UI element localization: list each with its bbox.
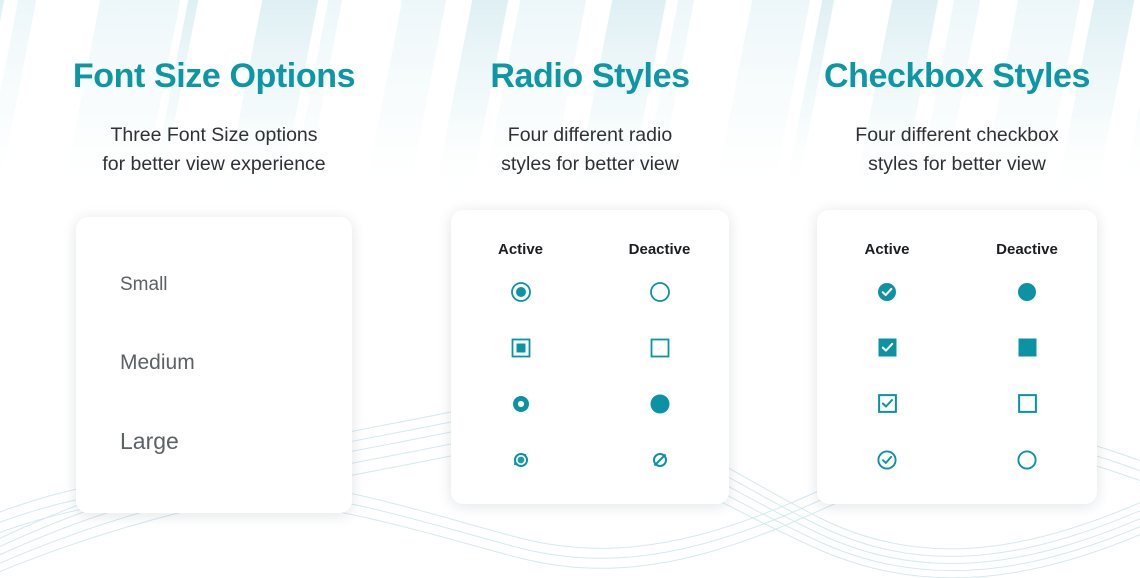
check-square-filled-icon bbox=[878, 338, 897, 357]
column-checkbox-styles: Checkbox Styles Four different checkbox … bbox=[774, 58, 1140, 578]
font-option-large[interactable]: Large bbox=[120, 430, 352, 453]
page-title-checkbox-styles: Checkbox Styles bbox=[824, 58, 1090, 95]
radio-circle-solid-icon bbox=[649, 393, 671, 415]
circle-solid-icon bbox=[1017, 282, 1037, 302]
checkbox-options-grid: Active Deactive bbox=[817, 241, 1097, 488]
radio-deactive-row-2[interactable] bbox=[649, 320, 671, 376]
radio-square-empty-icon bbox=[649, 337, 671, 359]
radio-slash-filled-icon bbox=[509, 448, 533, 472]
radio-options-grid: Active Deactive bbox=[451, 241, 729, 488]
radio-styles-card: Active Deactive bbox=[451, 210, 729, 504]
square-outline-icon bbox=[1018, 394, 1037, 413]
square-solid-icon bbox=[1018, 338, 1037, 357]
checkbox-deactive-row-4[interactable] bbox=[1017, 432, 1037, 488]
checkbox-active-row-4[interactable] bbox=[877, 432, 897, 488]
check-square-outline-icon bbox=[878, 394, 897, 413]
check-circle-filled-icon bbox=[877, 282, 897, 302]
checkbox-styles-card: Active Deactive bbox=[817, 210, 1097, 504]
subtitle-checkbox-styles: Four different checkbox styles for bette… bbox=[855, 121, 1058, 178]
radio-slash-outline-icon bbox=[648, 448, 672, 472]
column-radio-styles: Radio Styles Four different radio styles… bbox=[406, 58, 774, 578]
checkbox-active-row-2[interactable] bbox=[878, 320, 897, 376]
circle-outline-icon bbox=[1017, 450, 1037, 470]
radio-active-row-3[interactable] bbox=[511, 376, 531, 432]
checkbox-column-header-deactive: Deactive bbox=[996, 241, 1058, 264]
columns-container: Font Size Options Three Font Size option… bbox=[0, 0, 1140, 578]
radio-active-row-1[interactable] bbox=[510, 264, 532, 320]
radio-donut-icon bbox=[511, 394, 531, 414]
checkbox-active-row-3[interactable] bbox=[878, 376, 897, 432]
font-size-card: Small Medium Large bbox=[76, 217, 352, 513]
radio-column-header-deactive: Deactive bbox=[629, 241, 691, 264]
page-title-radio-styles: Radio Styles bbox=[490, 58, 689, 95]
radio-circle-empty-icon bbox=[649, 281, 671, 303]
radio-column-header-active: Active bbox=[498, 241, 543, 264]
font-option-small[interactable]: Small bbox=[120, 275, 352, 294]
radio-active-row-4[interactable] bbox=[509, 432, 533, 488]
column-font-size-options: Font Size Options Three Font Size option… bbox=[22, 58, 406, 578]
checkbox-deactive-row-2[interactable] bbox=[1018, 320, 1037, 376]
radio-deactive-row-4[interactable] bbox=[648, 432, 672, 488]
checkbox-deactive-row-1[interactable] bbox=[1017, 264, 1037, 320]
radio-circle-dot-icon bbox=[510, 281, 532, 303]
check-circle-outline-icon bbox=[877, 450, 897, 470]
radio-active-row-2[interactable] bbox=[510, 320, 532, 376]
subtitle-font-size: Three Font Size options for better view … bbox=[102, 121, 325, 178]
subtitle-radio-styles: Four different radio styles for better v… bbox=[501, 121, 679, 178]
radio-square-filled-icon bbox=[510, 337, 532, 359]
checkbox-active-row-1[interactable] bbox=[877, 264, 897, 320]
checkbox-deactive-row-3[interactable] bbox=[1018, 376, 1037, 432]
checkbox-column-header-active: Active bbox=[864, 241, 909, 264]
font-option-medium[interactable]: Medium bbox=[120, 352, 352, 373]
radio-deactive-row-3[interactable] bbox=[649, 376, 671, 432]
page-title-font-size: Font Size Options bbox=[73, 58, 355, 95]
page-root: Font Size Options Three Font Size option… bbox=[0, 0, 1140, 578]
radio-deactive-row-1[interactable] bbox=[649, 264, 671, 320]
